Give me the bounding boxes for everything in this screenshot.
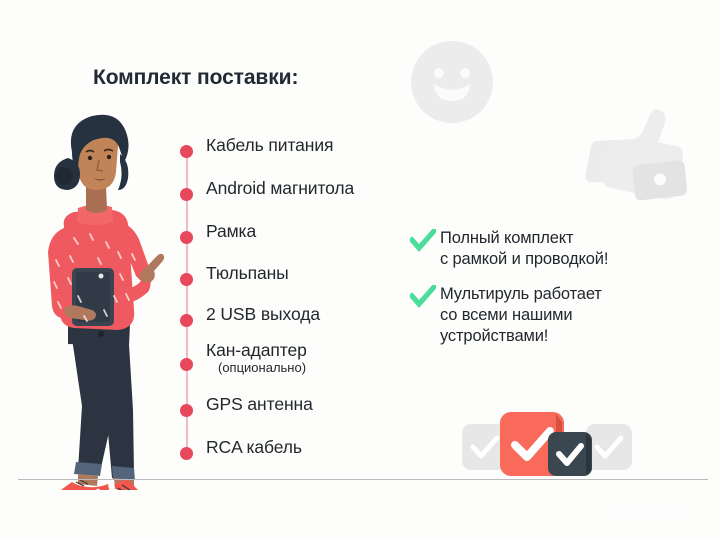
bullet-dot-icon bbox=[180, 273, 193, 286]
benefit-text: Полный комплект с рамкой и проводкой! bbox=[440, 228, 608, 270]
list-item-label: GPS антенна bbox=[206, 394, 313, 415]
benefit-line-1: Мультируль работает bbox=[440, 285, 602, 303]
benefit-line-2: с рамкой и проводкой! bbox=[440, 250, 608, 268]
bullet-dot-icon bbox=[180, 231, 193, 244]
bullet-dot-icon bbox=[180, 188, 193, 201]
checkbox-card-gray-right bbox=[586, 424, 632, 470]
checkbox-cards-group bbox=[462, 410, 632, 485]
bullet-dot-icon bbox=[180, 447, 193, 460]
list-item-label: 2 USB выхода bbox=[206, 304, 320, 325]
avito-wordmark: Avito bbox=[634, 502, 683, 523]
avito-logo-icon bbox=[612, 500, 631, 524]
benefit-line-3: устройствами! bbox=[440, 327, 548, 345]
list-item-label: Android магнитола bbox=[206, 178, 354, 199]
smiley-face-icon bbox=[409, 39, 495, 125]
thumbs-up-icon bbox=[578, 104, 690, 208]
list-item-label: Рамка bbox=[206, 221, 256, 242]
green-check-icon bbox=[410, 285, 440, 314]
benefit-line-1: Полный комплект bbox=[440, 229, 573, 247]
bullet-dot-icon bbox=[180, 145, 193, 158]
bullet-dot-icon bbox=[180, 358, 193, 371]
list-item-label: Тюльпаны bbox=[206, 263, 289, 284]
woman-pointing-illustration bbox=[8, 110, 193, 490]
list-item-label: RCA кабель bbox=[206, 437, 302, 458]
list-item-sublabel: (опционально) bbox=[218, 360, 306, 375]
list-item-label: Кабель питания bbox=[206, 135, 333, 156]
benefit-text: Мультируль работает со всеми нашими устр… bbox=[440, 284, 602, 347]
checkbox-card-navy bbox=[548, 432, 592, 476]
benefit-line-2: со всеми нашими bbox=[440, 306, 572, 324]
benefit-item: Полный комплект с рамкой и проводкой! bbox=[410, 228, 710, 270]
green-check-icon bbox=[410, 229, 440, 258]
delivery-list: Кабель питания Android магнитола Рамка Т… bbox=[170, 120, 410, 465]
bullet-dot-icon bbox=[180, 404, 193, 417]
benefit-item: Мультируль работает со всеми нашими устр… bbox=[410, 284, 710, 347]
benefits-list: Полный комплект с рамкой и проводкой! Му… bbox=[410, 228, 710, 361]
avito-watermark: Avito bbox=[612, 500, 683, 524]
list-item-label: Кан-адаптер bbox=[206, 340, 307, 361]
page-title: Комплект поставки: bbox=[93, 66, 298, 90]
bullet-dot-icon bbox=[180, 314, 193, 327]
